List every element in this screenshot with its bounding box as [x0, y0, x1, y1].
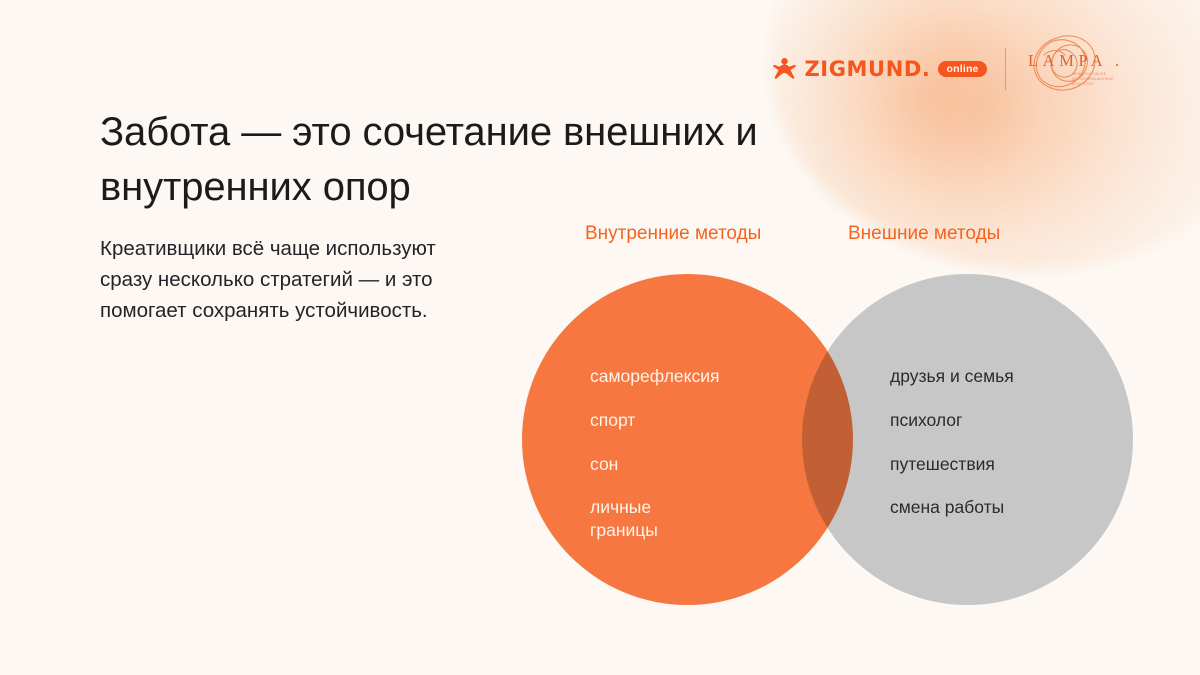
venn-item: сон	[590, 453, 720, 476]
zigmund-wordmark: ZIGMUND.	[804, 59, 930, 80]
zigmund-online-badge: online	[938, 61, 986, 77]
venn-item: путешествия	[890, 453, 1014, 476]
venn-label-internal: Внутренние методы	[585, 224, 761, 243]
venn-item: саморефлексия	[590, 365, 720, 388]
venn-label-external: Внешние методы	[848, 224, 1000, 243]
lampa-tagline: МЕЖДУНАРОДНОЕ КОММУНИКАЦИОННОЕ АГЕНТСТВО	[1072, 72, 1124, 87]
venn-item: смена работы	[890, 496, 1014, 519]
lampa-logo[interactable]: LAMPA . МЕЖДУНАРОДНОЕ КОММУНИКАЦИОННОЕ А…	[1024, 34, 1142, 104]
venn-item: спорт	[590, 409, 720, 432]
venn-item: друзья и семья	[890, 365, 1014, 388]
zigmund-star-figure-icon	[772, 57, 797, 82]
venn-diagram: Внутренние методы Внешние методы самореф…	[500, 215, 1140, 635]
logo-lockup: ZIGMUND. online LAMPA . МЕЖДУНАРОДНОЕ КО…	[772, 34, 1142, 104]
slide-subtitle: Креативщики всё чаще используют сразу не…	[100, 233, 485, 326]
logo-divider	[1005, 48, 1006, 90]
venn-item: личные границы	[590, 496, 720, 542]
venn-list-external: друзья и семья психолог путешествия смен…	[890, 365, 1014, 519]
lampa-wordmark: LAMPA .	[1028, 53, 1124, 70]
venn-item: психолог	[890, 409, 1014, 432]
slide-title: Забота — это сочетание внешних и внутрен…	[100, 105, 800, 215]
venn-list-internal: саморефлексия спорт сон личные границы	[590, 365, 720, 542]
zigmund-online-logo[interactable]: ZIGMUND. online	[772, 57, 986, 82]
slide-canvas: ZIGMUND. online LAMPA . МЕЖДУНАРОДНОЕ КО…	[0, 0, 1200, 675]
